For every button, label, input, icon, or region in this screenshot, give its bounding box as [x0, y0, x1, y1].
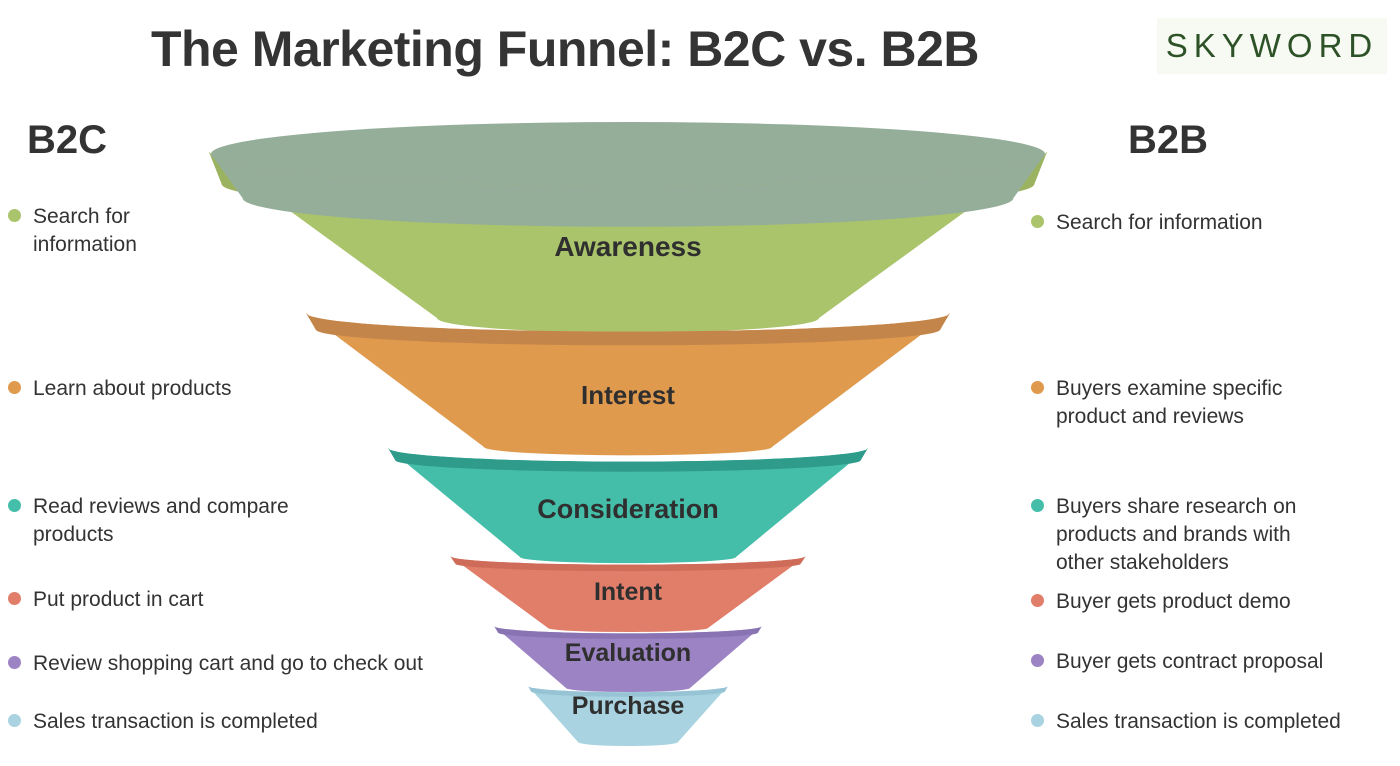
bullet-dot-icon — [8, 592, 21, 605]
bullet-item: Review shopping cart and go to check out — [8, 650, 423, 678]
bullet-dot-icon — [8, 499, 21, 512]
bullet-item: Read reviews and compareproducts — [8, 493, 289, 549]
bullet-text: Buyer gets product demo — [1056, 588, 1291, 616]
funnel-stage-label: Awareness — [554, 231, 701, 262]
bullet-text-line: other stakeholders — [1056, 549, 1296, 577]
bullet-item: Sales transaction is completed — [1031, 708, 1341, 736]
bullet-text-line: Buyer gets product demo — [1056, 588, 1291, 616]
funnel-stage-label: Purchase — [572, 692, 685, 720]
bullet-text-line: Read reviews and compare — [33, 493, 289, 521]
bullet-dot-icon — [8, 209, 21, 222]
bullet-text-line: products — [33, 521, 289, 549]
funnel-stage-label: Evaluation — [565, 639, 691, 667]
bullet-dot-icon — [8, 714, 21, 727]
bullet-text-line: Buyer gets contract proposal — [1056, 648, 1323, 676]
bullet-text: Search for information — [1056, 209, 1263, 237]
bullet-item: Buyer gets contract proposal — [1031, 648, 1323, 676]
funnel-stage-awareness — [209, 122, 1047, 333]
bullet-dot-icon — [1031, 499, 1044, 512]
bullet-dot-icon — [1031, 594, 1044, 607]
infographic-canvas: The Marketing Funnel: B2C vs. B2B SKYWOR… — [0, 0, 1400, 766]
bullet-text-line: information — [33, 231, 137, 259]
bullet-text-line: Search for — [33, 203, 137, 231]
bullet-dot-icon — [8, 381, 21, 394]
bullet-text: Learn about products — [33, 375, 231, 403]
bullet-dot-icon — [1031, 654, 1044, 667]
bullet-text-line: Sales transaction is completed — [33, 708, 318, 736]
bullet-text-line: Sales transaction is completed — [1056, 708, 1341, 736]
funnel-stage-label: Intent — [594, 578, 663, 606]
bullet-text: Search forinformation — [33, 203, 137, 259]
bullet-text-line: Learn about products — [33, 375, 231, 403]
bullet-item: Learn about products — [8, 375, 231, 403]
funnel-stage-label: Consideration — [537, 494, 719, 524]
bullet-text: Review shopping cart and go to check out — [33, 650, 423, 678]
bullet-text: Buyers share research onproducts and bra… — [1056, 493, 1296, 577]
bullet-text-line: Review shopping cart and go to check out — [33, 650, 423, 678]
bullet-item: Buyers examine specificproduct and revie… — [1031, 375, 1282, 431]
bullet-item: Search forinformation — [8, 203, 137, 259]
bullet-text-line: Buyers examine specific — [1056, 375, 1282, 403]
bullet-text-line: Put product in cart — [33, 586, 203, 614]
bullet-dot-icon — [1031, 714, 1044, 727]
bullet-dot-icon — [1031, 215, 1044, 228]
bullet-text: Sales transaction is completed — [1056, 708, 1341, 736]
bullet-item: Buyers share research onproducts and bra… — [1031, 493, 1296, 577]
bullet-text: Buyer gets contract proposal — [1056, 648, 1323, 676]
bullet-item: Put product in cart — [8, 586, 203, 614]
bullet-text-line: Buyers share research on — [1056, 493, 1296, 521]
bullet-item: Sales transaction is completed — [8, 708, 318, 736]
bullet-item: Search for information — [1031, 209, 1263, 237]
bullet-dot-icon — [8, 656, 21, 669]
bullet-text: Put product in cart — [33, 586, 203, 614]
bullet-text-line: products and brands with — [1056, 521, 1296, 549]
bullet-item: Buyer gets product demo — [1031, 588, 1291, 616]
funnel-stage-label: Interest — [581, 380, 675, 410]
funnel-top-surface — [211, 122, 1045, 186]
bullet-text-line: product and reviews — [1056, 403, 1282, 431]
bullet-dot-icon — [1031, 381, 1044, 394]
bullet-text: Buyers examine specificproduct and revie… — [1056, 375, 1282, 431]
bullet-text-line: Search for information — [1056, 209, 1263, 237]
bullet-text: Read reviews and compareproducts — [33, 493, 289, 549]
bullet-text: Sales transaction is completed — [33, 708, 318, 736]
